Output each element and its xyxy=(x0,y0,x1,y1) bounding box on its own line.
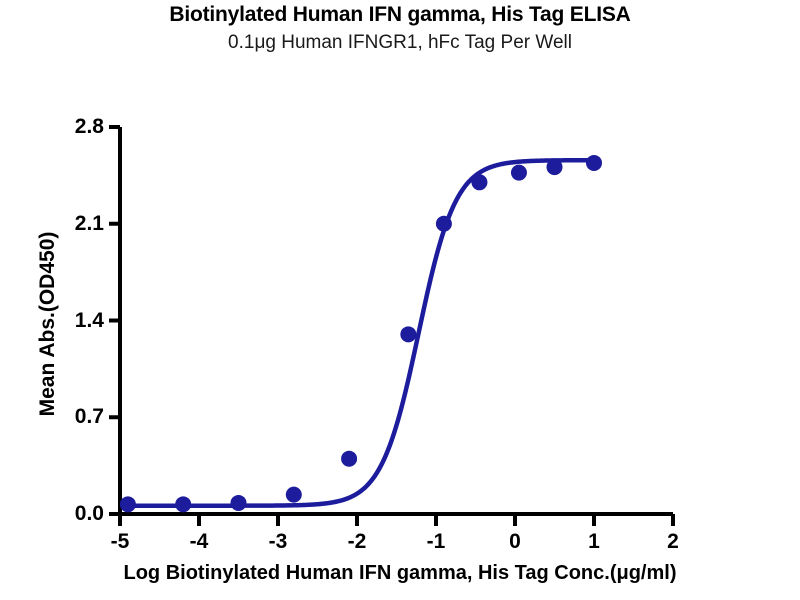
data-point xyxy=(436,216,452,232)
fit-curve-path xyxy=(128,160,594,506)
plot-area: 0.00.71.42.12.8 -5-4-3-2-1012 Mean Abs.(… xyxy=(0,0,800,600)
data-point xyxy=(231,495,247,511)
elisa-chart: Biotinylated Human IFN gamma, His Tag EL… xyxy=(0,0,800,600)
data-points xyxy=(120,155,602,512)
x-axis-title: Log Biotinylated Human IFN gamma, His Ta… xyxy=(0,562,800,585)
axes xyxy=(120,127,673,514)
data-point xyxy=(400,326,416,342)
y-axis-title: Mean Abs.(OD450) xyxy=(36,184,60,464)
data-point xyxy=(341,451,357,467)
data-point xyxy=(511,165,527,181)
data-point xyxy=(120,496,136,512)
data-point xyxy=(286,487,302,503)
data-point xyxy=(547,159,563,175)
data-point xyxy=(471,174,487,190)
fit-curve xyxy=(128,160,594,506)
data-point xyxy=(586,155,602,171)
plot-svg xyxy=(0,0,800,600)
data-point xyxy=(175,496,191,512)
